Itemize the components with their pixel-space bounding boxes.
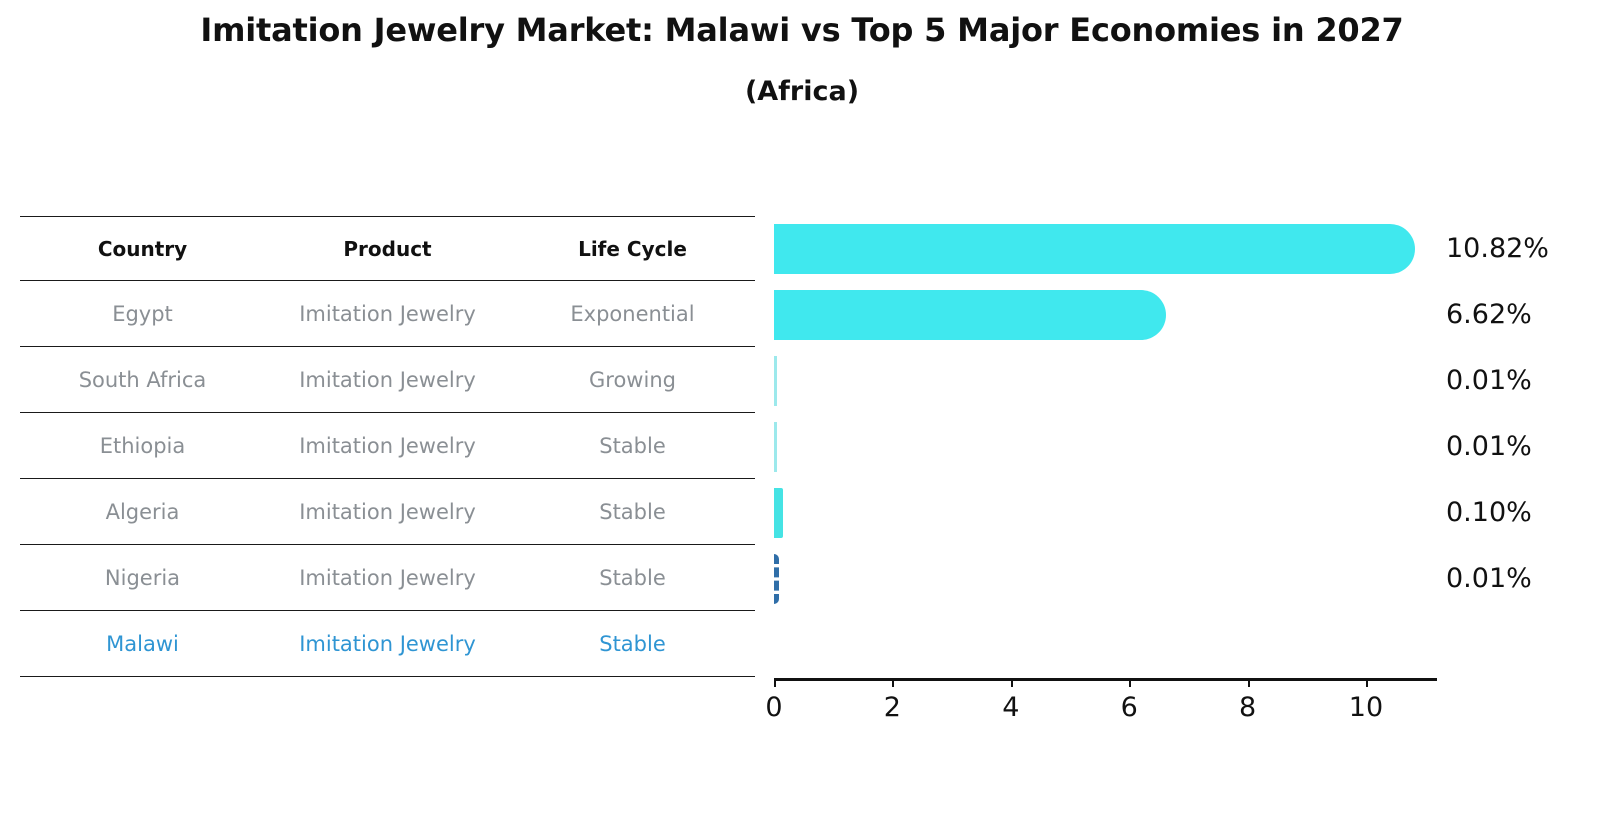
value-label-algeria: 0.01% [1446, 414, 1532, 480]
table-row: South Africa Imitation Jewelry Growing [20, 347, 755, 413]
table-header-row: Country Product Life Cycle [20, 217, 755, 281]
bar-row-ethiopia [774, 348, 1437, 414]
column-header-product: Product [265, 217, 510, 281]
value-label-malawi: 0.01% [1446, 546, 1532, 612]
cell-country: Algeria [20, 479, 265, 545]
cell-product: Imitation Jewelry [265, 479, 510, 545]
chart-page: Imitation Jewelry Market: Malawi vs Top … [0, 0, 1604, 823]
cell-country: Nigeria [20, 545, 265, 611]
x-tick-2 [892, 678, 894, 687]
cell-product: Imitation Jewelry [265, 611, 510, 677]
x-tick-0 [774, 678, 776, 687]
table-header: Country Product Life Cycle [20, 217, 755, 281]
table: Country Product Life Cycle Egypt Imitati… [20, 216, 755, 677]
x-axis-line [774, 678, 1437, 681]
bar-row-algeria [774, 414, 1437, 480]
table-body: Egypt Imitation Jewelry Exponential Sout… [20, 281, 755, 677]
value-label-nigeria: 0.10% [1446, 480, 1532, 546]
x-tick-label-0: 0 [765, 692, 782, 723]
bar-row-egypt [774, 216, 1437, 282]
country-table: Country Product Life Cycle Egypt Imitati… [20, 216, 755, 678]
cell-product: Imitation Jewelry [265, 347, 510, 413]
x-tick-label-6: 6 [1121, 692, 1138, 723]
bar-ethiopia [774, 356, 777, 406]
x-tick-10 [1366, 678, 1368, 687]
bar-south-africa [774, 290, 1166, 340]
bar-algeria [774, 422, 777, 472]
table-row-highlighted: Malawi Imitation Jewelry Stable [20, 611, 755, 677]
x-tick-label-4: 4 [1002, 692, 1019, 723]
cell-life-cycle: Growing [510, 347, 755, 413]
table-row: Nigeria Imitation Jewelry Stable [20, 545, 755, 611]
bar-row-south-africa [774, 282, 1437, 348]
bar-row-nigeria [774, 480, 1437, 546]
cell-life-cycle: Stable [510, 413, 755, 479]
x-tick-4 [1011, 678, 1013, 687]
bar-row-malawi [774, 546, 1437, 612]
x-tick-6 [1129, 678, 1131, 687]
bar-nigeria [774, 488, 783, 538]
bar-egypt [774, 224, 1415, 274]
x-tick-label-8: 8 [1239, 692, 1256, 723]
table-row: Algeria Imitation Jewelry Stable [20, 479, 755, 545]
value-label-south-africa: 6.62% [1446, 282, 1532, 348]
value-label-egypt: 10.82% [1446, 216, 1549, 282]
bar-malawi [774, 554, 779, 604]
x-tick-label-10: 10 [1349, 692, 1383, 723]
cell-country: Malawi [20, 611, 265, 677]
page-title: Imitation Jewelry Market: Malawi vs Top … [0, 14, 1604, 46]
table-row: Ethiopia Imitation Jewelry Stable [20, 413, 755, 479]
cell-product: Imitation Jewelry [265, 545, 510, 611]
cell-country: Egypt [20, 281, 265, 347]
cell-product: Imitation Jewelry [265, 413, 510, 479]
x-tick-8 [1248, 678, 1250, 687]
cell-life-cycle: Exponential [510, 281, 755, 347]
column-header-life-cycle: Life Cycle [510, 217, 755, 281]
cell-country: South Africa [20, 347, 265, 413]
table-row: Egypt Imitation Jewelry Exponential [20, 281, 755, 347]
cell-life-cycle: Stable [510, 545, 755, 611]
x-tick-label-2: 2 [884, 692, 901, 723]
plot-area: 10.82% 6.62% 0.01% 0.01% 0.10% 0.01% 024… [774, 216, 1437, 678]
value-label-ethiopia: 0.01% [1446, 348, 1532, 414]
bar-chart: 10.82% 6.62% 0.01% 0.01% 0.10% 0.01% 024… [774, 216, 1594, 726]
cell-life-cycle: Stable [510, 611, 755, 677]
page-subtitle: (Africa) [0, 78, 1604, 105]
cell-product: Imitation Jewelry [265, 281, 510, 347]
cell-country: Ethiopia [20, 413, 265, 479]
cell-life-cycle: Stable [510, 479, 755, 545]
column-header-country: Country [20, 217, 265, 281]
